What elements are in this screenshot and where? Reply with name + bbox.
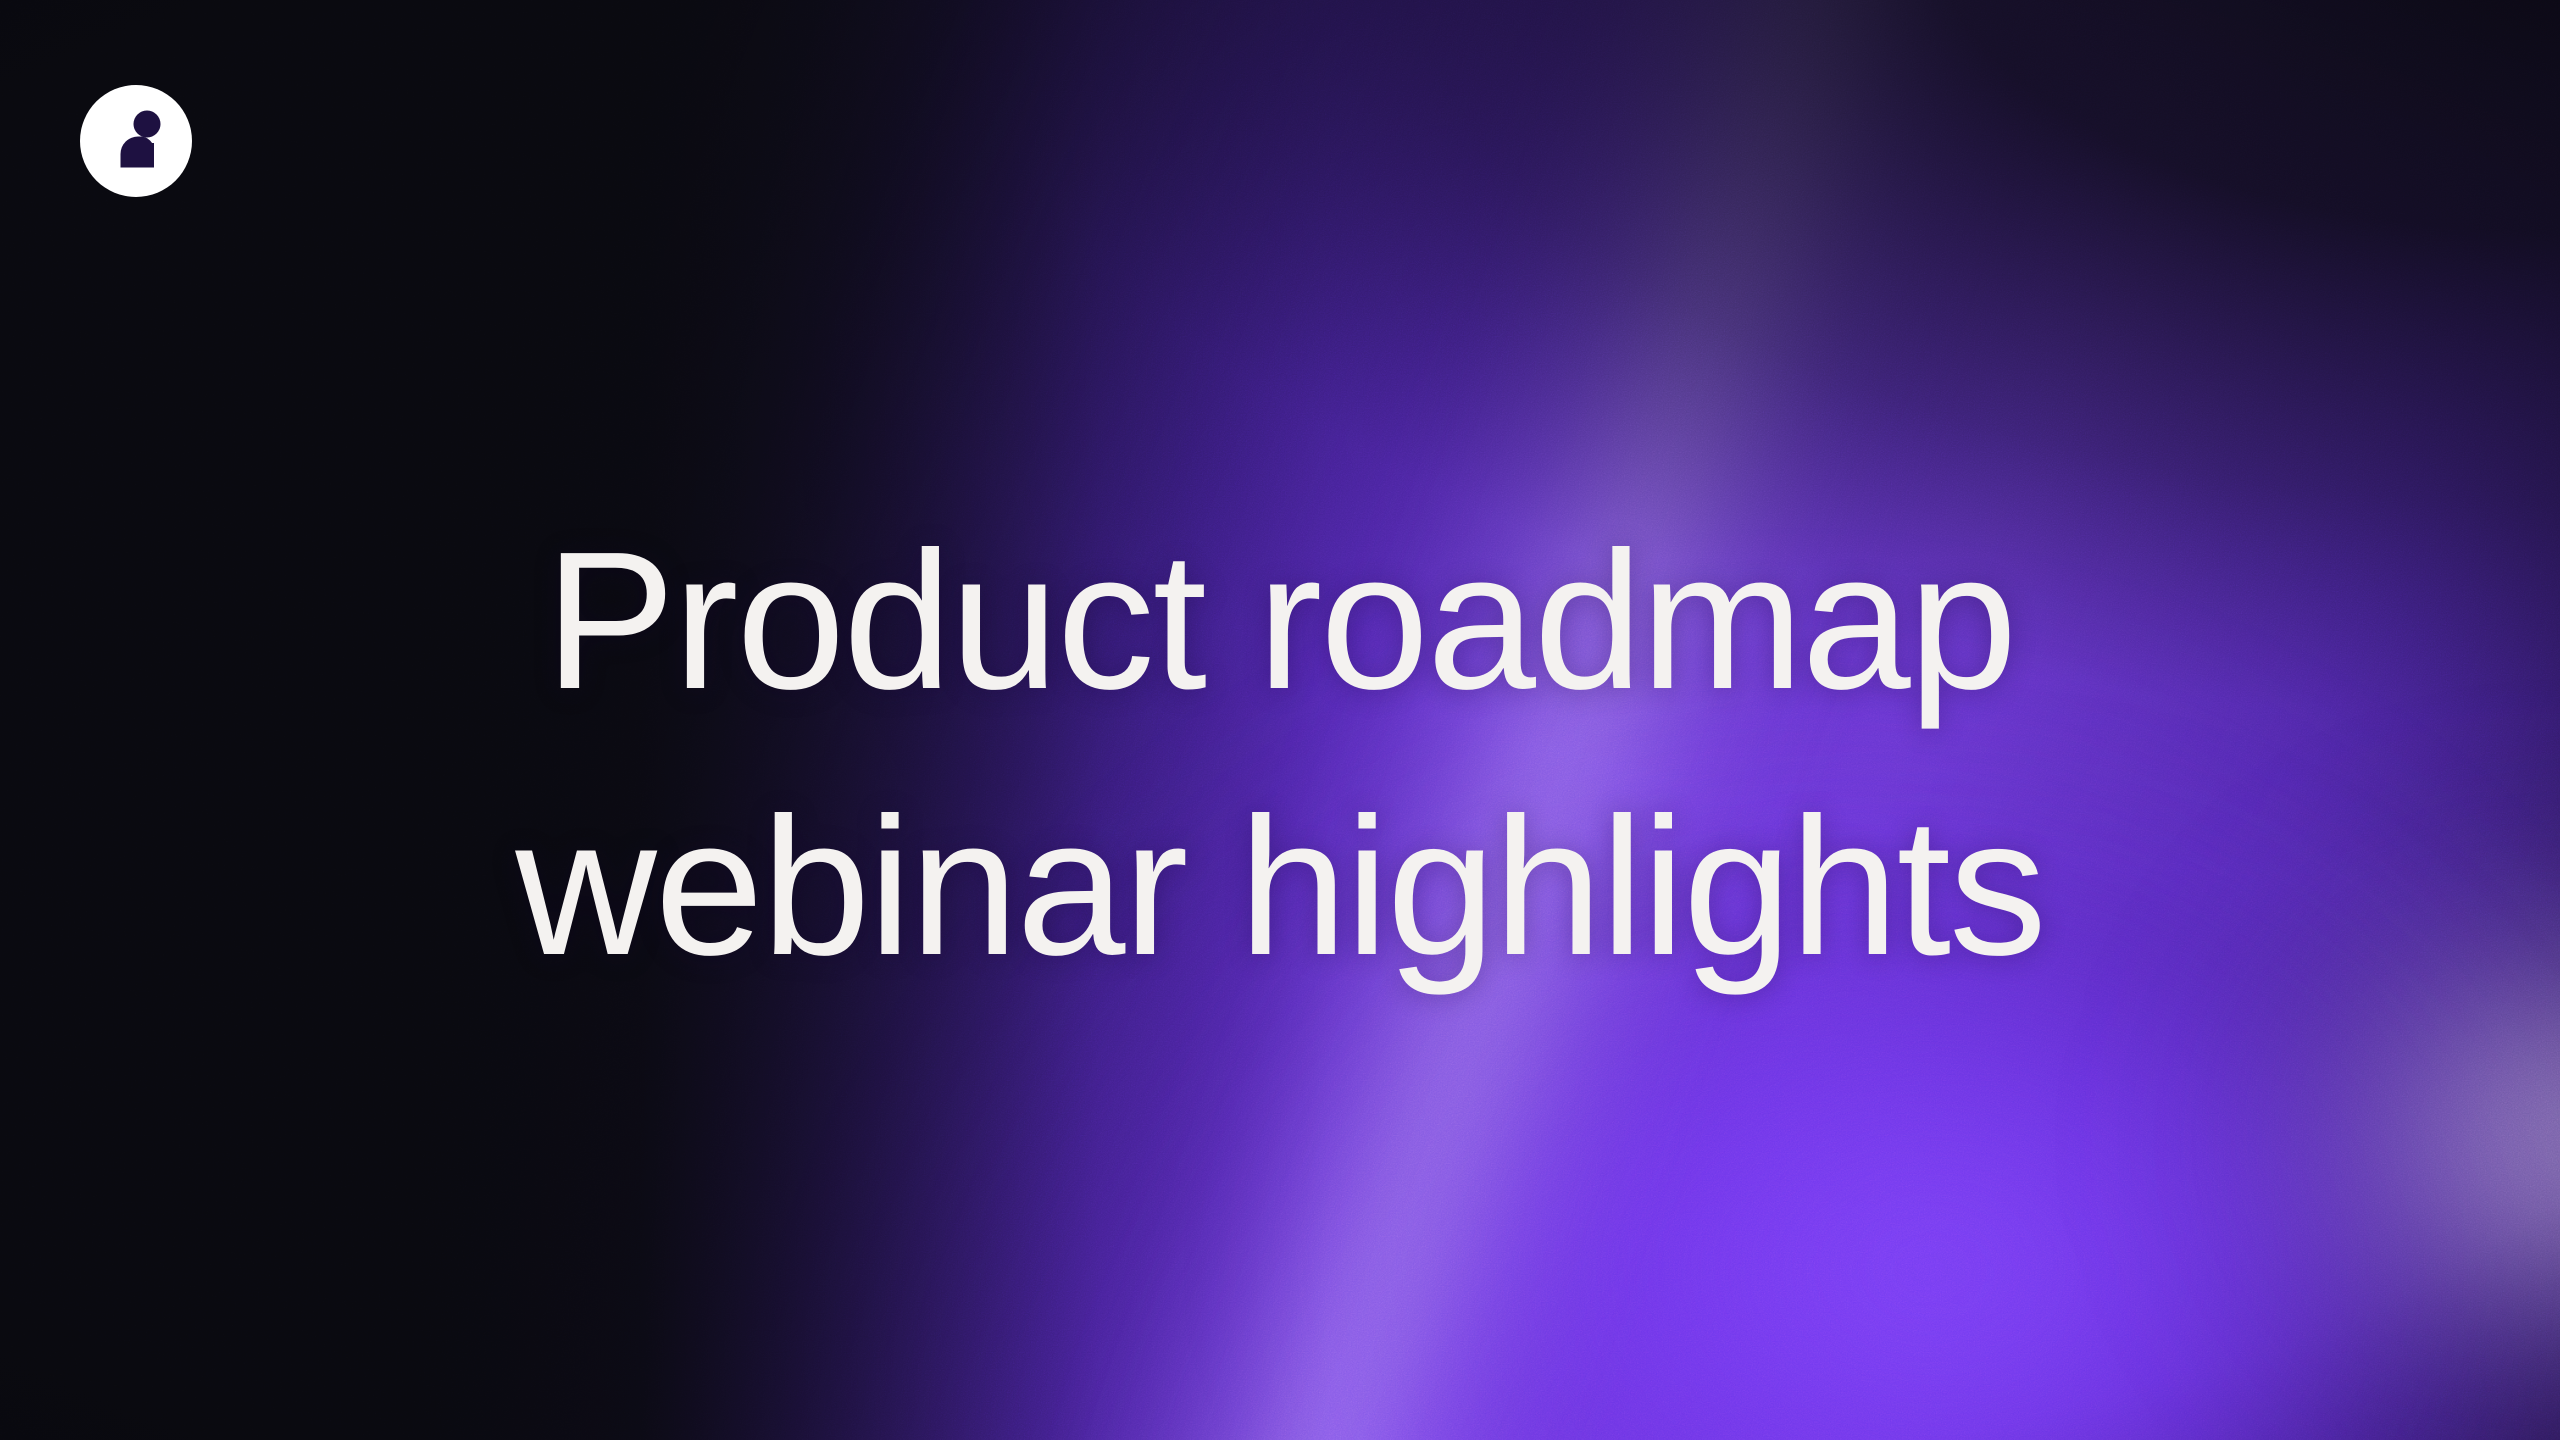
title-slide: Product roadmap webinar highlights	[0, 0, 2560, 1440]
headline-line-1: Product roadmap	[0, 488, 2560, 754]
brand-logo[interactable]	[80, 85, 192, 197]
page-title: Product roadmap webinar highlights	[0, 488, 2560, 1019]
logo-i-icon	[80, 85, 192, 197]
headline-line-2: webinar highlights	[0, 754, 2560, 1020]
